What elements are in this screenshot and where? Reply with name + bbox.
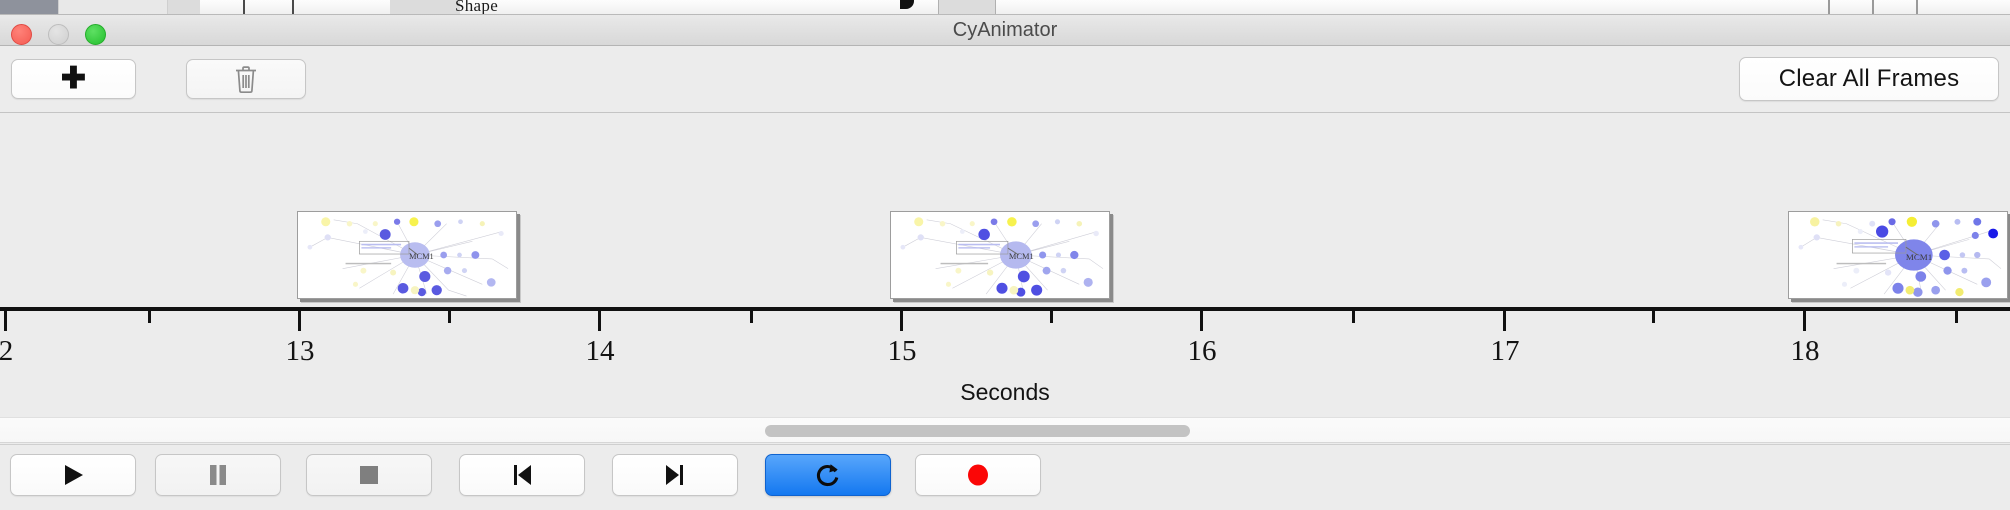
- ruler-tick-major: [1503, 311, 1506, 331]
- stop-button[interactable]: [306, 454, 432, 496]
- skip-back-icon: [510, 462, 534, 488]
- playback-toolbar: Animation Speed:: [0, 444, 2010, 510]
- ruler-baseline: [0, 307, 2010, 311]
- add-frame-button[interactable]: ✚: [11, 59, 136, 99]
- cyanimator-window: Shape CyAnimator ✚: [0, 0, 2010, 510]
- ruler-label: 16: [1188, 335, 1217, 368]
- record-icon: [965, 462, 991, 488]
- loop-icon: [814, 461, 842, 489]
- ruler-label: 18: [1791, 335, 1820, 368]
- record-button[interactable]: [915, 454, 1041, 496]
- timeline-frame-thumbnail[interactable]: MCM1: [890, 211, 1110, 299]
- play-icon: [60, 462, 86, 488]
- play-button[interactable]: [10, 454, 136, 496]
- svg-text:MCM1: MCM1: [1009, 252, 1034, 261]
- ruler-label: 2: [0, 335, 13, 368]
- ruler-tick-major: [4, 311, 7, 331]
- ruler-tick-minor: [1652, 311, 1655, 323]
- title-bar: CyAnimator: [0, 15, 2010, 46]
- pause-icon: [206, 462, 230, 488]
- frame-toolbar: ✚ Clear All Frames: [0, 46, 2010, 113]
- timeline-ruler[interactable]: 2 13 14 15 16 17 18 Seconds: [0, 305, 2010, 415]
- ruler-tick-minor: [448, 311, 451, 323]
- ruler-tick-minor: [750, 311, 753, 323]
- delete-frame-button[interactable]: [186, 59, 306, 99]
- svg-text:MCM1: MCM1: [409, 252, 434, 261]
- trash-icon: [233, 64, 259, 94]
- clear-all-frames-button[interactable]: Clear All Frames: [1739, 57, 1999, 101]
- ruler-tick-minor: [1955, 311, 1958, 323]
- network-graph-preview: MCM1: [298, 212, 516, 298]
- background-window-label: Shape: [455, 0, 498, 15]
- ruler-label: 15: [888, 335, 917, 368]
- skip-to-start-button[interactable]: [459, 454, 585, 496]
- loop-button[interactable]: [765, 454, 891, 496]
- ruler-tick-major: [598, 311, 601, 331]
- timeline-frame-thumbnail[interactable]: MCM1: [297, 211, 517, 299]
- ruler-label: 13: [286, 335, 315, 368]
- ruler-tick-major: [900, 311, 903, 331]
- svg-text:MCM1: MCM1: [1906, 252, 1932, 262]
- ruler-tick-minor: [148, 311, 151, 323]
- ruler-tick-major: [298, 311, 301, 331]
- plus-icon: ✚: [61, 64, 86, 94]
- pause-button[interactable]: [155, 454, 281, 496]
- ruler-tick-major: [1803, 311, 1806, 331]
- ruler-tick-minor: [1352, 311, 1355, 323]
- network-graph-preview: MCM1: [891, 212, 1109, 298]
- timeline-frame-thumbnail[interactable]: MCM1: [1788, 211, 2008, 299]
- skip-to-end-button[interactable]: [612, 454, 738, 496]
- timeline-scrollbar-thumb[interactable]: [765, 425, 1190, 437]
- network-graph-preview: MCM1: [1789, 212, 2007, 298]
- ruler-tick-minor: [1050, 311, 1053, 323]
- background-window-strip: Shape: [0, 0, 2010, 15]
- ruler-tick-major: [1200, 311, 1203, 331]
- window-title: CyAnimator: [0, 15, 2010, 46]
- ruler-label: 14: [586, 335, 615, 368]
- stop-icon: [357, 463, 381, 487]
- skip-forward-icon: [663, 462, 687, 488]
- ruler-label: 17: [1491, 335, 1520, 368]
- timeline-scrollbar[interactable]: [0, 417, 2010, 443]
- axis-title-seconds: Seconds: [0, 379, 2010, 406]
- timeline-canvas[interactable]: MCM1: [0, 113, 2010, 309]
